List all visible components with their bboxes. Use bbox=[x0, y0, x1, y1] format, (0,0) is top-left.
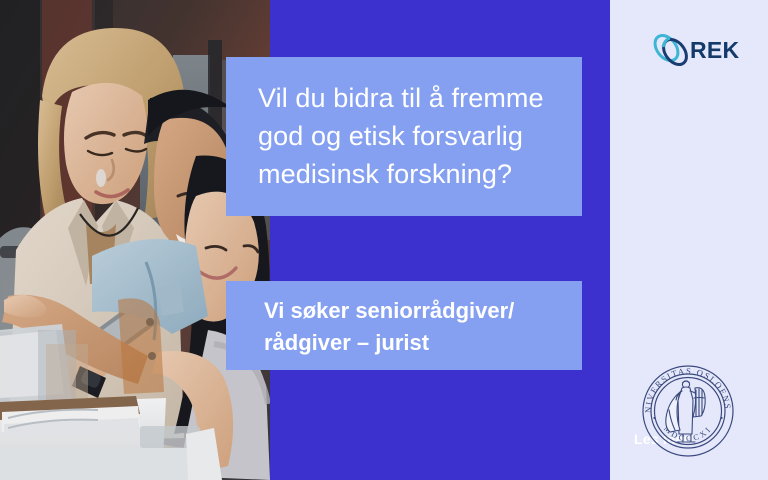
recruitment-banner: Vil du bidra til å fremme god og etisk f… bbox=[0, 0, 768, 480]
headline-line-3: medisinsk forskning? bbox=[258, 155, 552, 193]
role-card: Vi søker seniorrådgiver/ rådgiver – juri… bbox=[226, 281, 582, 370]
role-line-1: Vi søker seniorrådgiver/ bbox=[264, 295, 558, 327]
rek-wordmark: REK bbox=[690, 37, 739, 64]
uio-seal-icon: UNIVERSITAS OSLOENSIS MDCCCXI bbox=[639, 362, 737, 460]
headline-line-1: Vil du bidra til å fremme bbox=[258, 79, 552, 117]
headline-card: Vil du bidra til å fremme god og etisk f… bbox=[226, 57, 582, 216]
rek-logo[interactable]: REK bbox=[650, 28, 738, 72]
headline-line-2: god og etisk forsvarlig bbox=[258, 117, 552, 155]
rek-interlocking-ellipses-icon bbox=[650, 29, 692, 71]
role-line-2: rådgiver – jurist bbox=[264, 327, 558, 359]
